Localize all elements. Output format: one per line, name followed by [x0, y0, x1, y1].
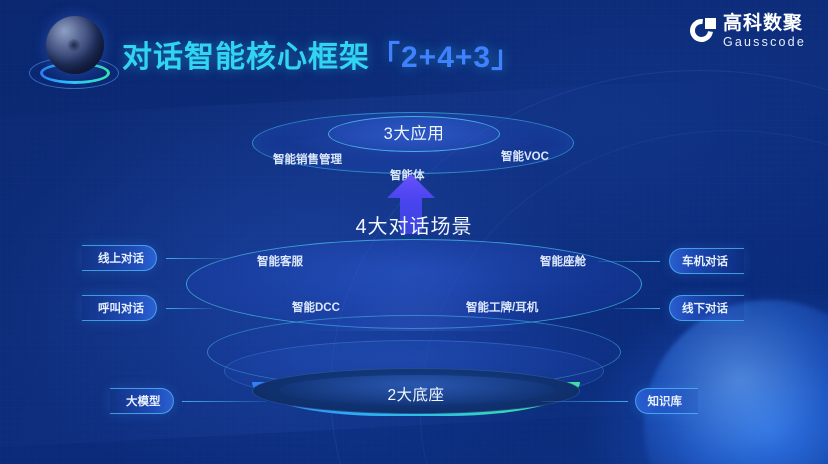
page-title-main: 对话智能核心框架 [122, 41, 370, 74]
connector-in-car-dialog [598, 261, 660, 262]
label-smart-cockpit: 智能座舱 [540, 253, 586, 269]
gausscode-mark-icon [690, 18, 716, 44]
brand-name-en: Gausscode [723, 36, 806, 49]
label-smart-customer-service: 智能客服 [257, 253, 303, 269]
pill-call-dialog[interactable]: 呼叫对话 [82, 295, 157, 321]
connector-call-dialog [166, 308, 212, 309]
pill-knowledge-base-label: 知识库 [648, 393, 683, 409]
label-smart-badge-headset: 智能工牌/耳机 [466, 299, 538, 315]
pill-online-dialog-label: 线上对话 [98, 250, 144, 266]
connector-online-dialog [166, 258, 228, 259]
brand-name-cn: 高科数聚 [723, 14, 806, 33]
mid-layer-title: 4大对话场景 [186, 210, 642, 239]
label-smart-sales-management: 智能销售管理 [273, 151, 342, 167]
base-layer-title: 2大底座 [252, 383, 580, 405]
sphere-icon [46, 16, 104, 74]
brand-logo: 高科数聚 Gausscode [690, 14, 806, 49]
label-smart-voc: 智能VOC [501, 148, 549, 164]
slide-canvas: 对话智能核心框架「2+4+3」 高科数聚 Gausscode 3大应用 智能销售… [0, 0, 828, 464]
sphere-on-ring-icon [28, 12, 120, 100]
page-title-accent: 「2+4+3」 [370, 41, 522, 74]
pill-large-model-label: 大模型 [126, 393, 161, 409]
pill-call-dialog-label: 呼叫对话 [98, 300, 144, 316]
pill-in-car-dialog[interactable]: 车机对话 [669, 248, 744, 274]
pill-large-model[interactable]: 大模型 [110, 388, 174, 414]
pill-knowledge-base[interactable]: 知识库 [635, 388, 699, 414]
pill-offline-dialog[interactable]: 线下对话 [669, 295, 744, 321]
page-title: 对话智能核心框架「2+4+3」 [122, 32, 522, 76]
pill-offline-dialog-label: 线下对话 [682, 300, 728, 316]
pill-in-car-dialog-label: 车机对话 [682, 253, 728, 269]
pill-online-dialog[interactable]: 线上对话 [82, 245, 157, 271]
label-smart-dcc: 智能DCC [292, 299, 340, 315]
top-layer-title: 3大应用 [328, 120, 500, 144]
connector-offline-dialog [614, 308, 660, 309]
